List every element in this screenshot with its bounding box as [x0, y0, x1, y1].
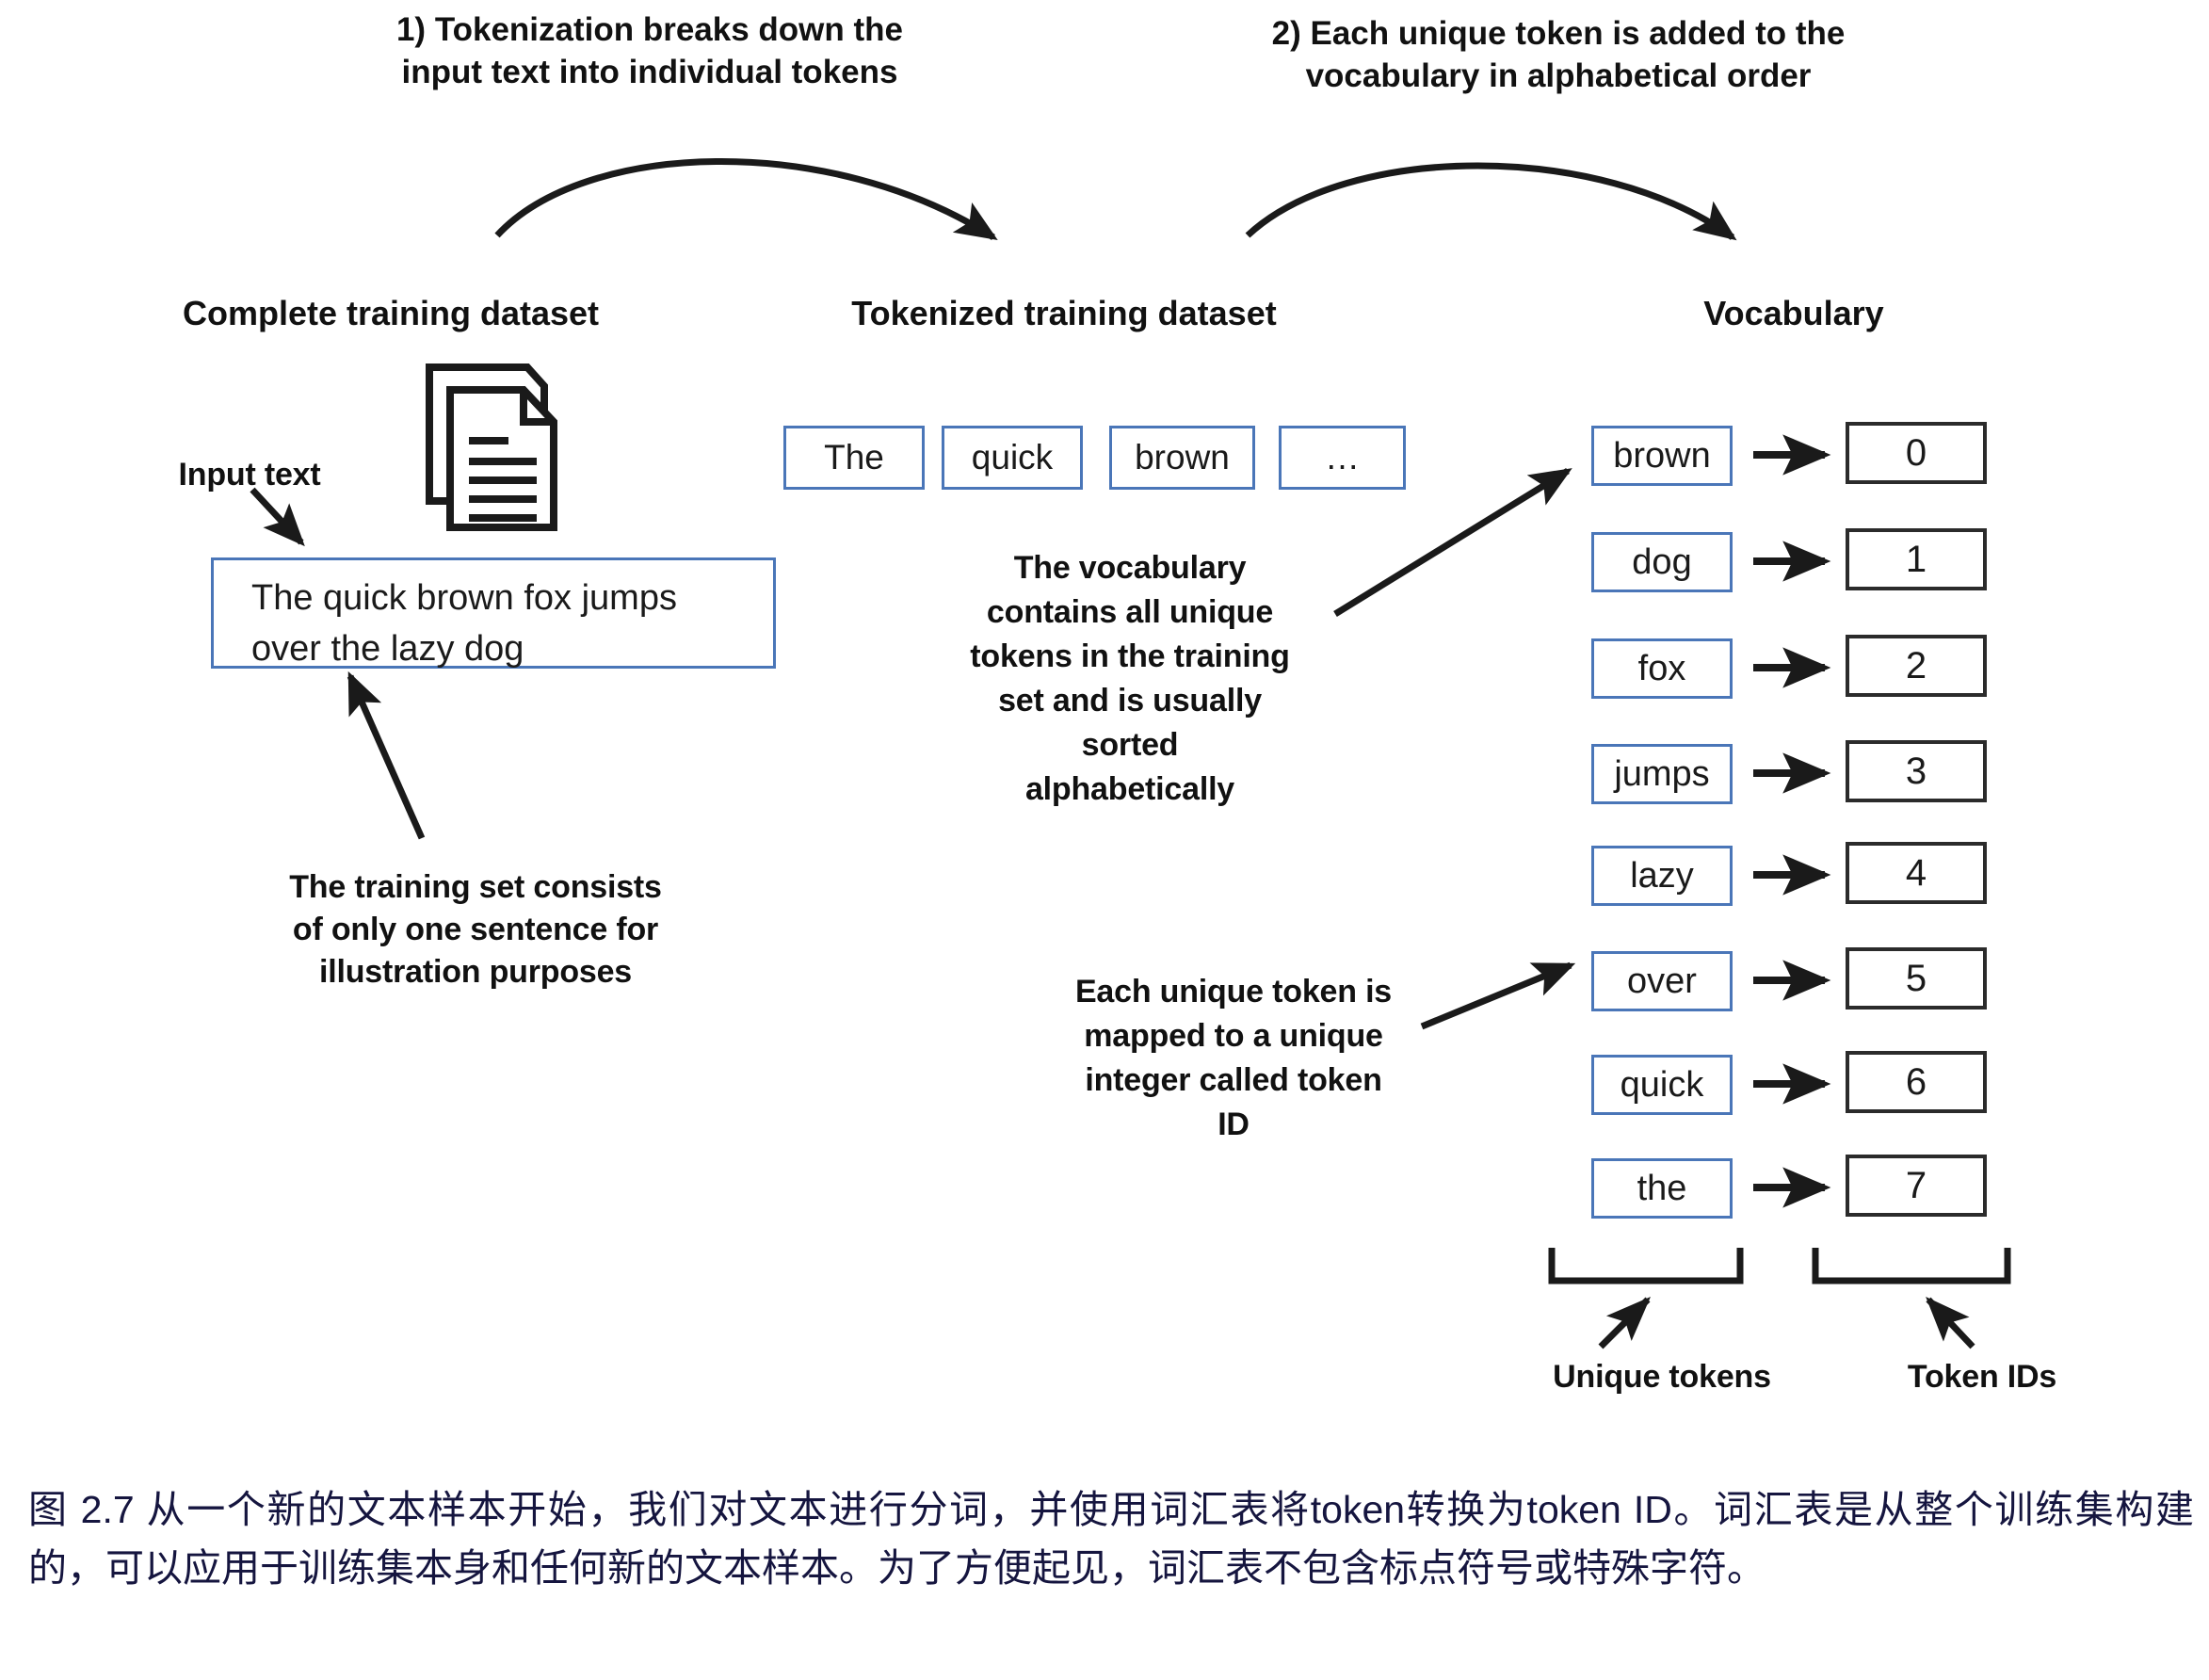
vocab-id-7[interactable]: 7: [1846, 1155, 1987, 1217]
vocab-token-1[interactable]: dog: [1591, 532, 1733, 592]
brace-unique-tokens: [1552, 1248, 1740, 1347]
vocab-token-2[interactable]: fox: [1591, 638, 1733, 699]
heading-vocabulary: Vocabulary: [1535, 294, 2053, 333]
token-chip-2[interactable]: brown: [1109, 426, 1255, 490]
vocab-token-7[interactable]: the: [1591, 1158, 1733, 1219]
vocab-token-0[interactable]: brown: [1591, 426, 1733, 486]
heading-tokenized-training-dataset: Tokenized training dataset: [753, 294, 1375, 333]
vocabulary-note: The vocabulary contains all unique token…: [942, 546, 1318, 811]
vocab-token-6[interactable]: quick: [1591, 1055, 1733, 1115]
token-chip-3[interactable]: …: [1279, 426, 1406, 490]
arrow-token-id-note: [1422, 965, 1571, 1026]
vocab-token-5[interactable]: over: [1591, 951, 1733, 1011]
heading-complete-training-dataset: Complete training dataset: [94, 294, 687, 333]
step-1-heading: 1) Tokenization breaks down the input te…: [311, 9, 989, 94]
brace-label-token-ids: Token IDs: [1789, 1356, 2175, 1398]
token-chip-1[interactable]: quick: [942, 426, 1083, 490]
vocab-id-0[interactable]: 0: [1846, 422, 1987, 484]
token-chip-0[interactable]: The: [783, 426, 925, 490]
brace-token-ids: [1815, 1248, 2007, 1347]
vocab-token-3[interactable]: jumps: [1591, 744, 1733, 804]
arrow-input-text-label: [252, 490, 301, 542]
vocab-id-4[interactable]: 4: [1846, 842, 1987, 904]
figure-caption: 图 2.7 从一个新的文本样本开始，我们对文本进行分词，并使用词汇表将token…: [28, 1480, 2194, 1598]
vocab-id-5[interactable]: 5: [1846, 947, 1987, 1010]
vocab-id-2[interactable]: 2: [1846, 635, 1987, 697]
vocab-id-6[interactable]: 6: [1846, 1051, 1987, 1113]
curved-arrow-step-1: [497, 161, 993, 237]
token-id-note: Each unique token is mapped to a unique …: [1073, 970, 1394, 1147]
input-text-label: Input text: [132, 454, 367, 496]
input-text-box[interactable]: The quick brown fox jumps over the lazy …: [211, 557, 776, 669]
documents-icon: [422, 360, 572, 539]
vocab-id-3[interactable]: 3: [1846, 740, 1987, 802]
arrow-training-set-note: [350, 676, 422, 838]
connector-overlay: [0, 0, 2209, 1680]
arrow-vocabulary-note: [1335, 471, 1568, 614]
curved-arrow-step-2: [1248, 166, 1733, 237]
vocab-token-4[interactable]: lazy: [1591, 846, 1733, 906]
vocab-id-1[interactable]: 1: [1846, 528, 1987, 590]
step-2-heading: 2) Each unique token is added to the voc…: [1205, 13, 1911, 98]
training-set-note: The training set consists of only one se…: [240, 866, 711, 993]
figure-canvas: 1) Tokenization breaks down the input te…: [0, 0, 2209, 1680]
